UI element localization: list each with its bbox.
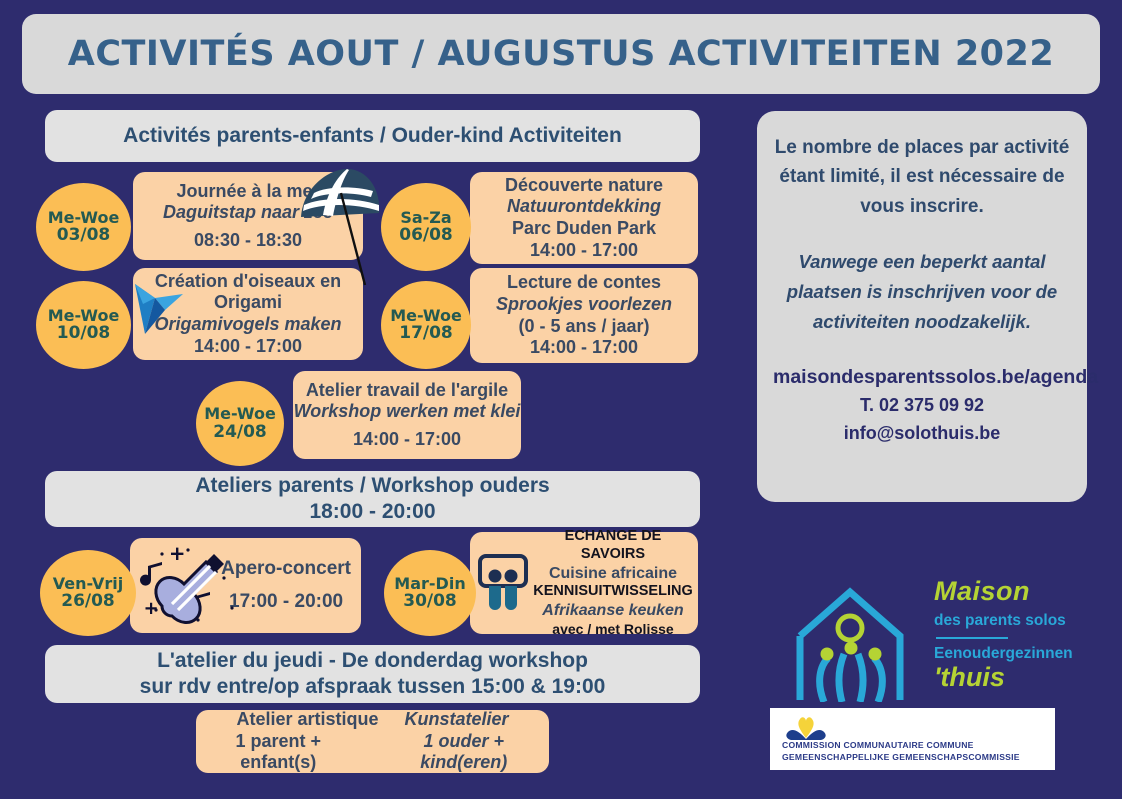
date-badge-30-08: Mar-Din 30/08 (384, 550, 476, 636)
info-nl-line1: Vanwege een beperkt aantal (773, 247, 1071, 277)
date-badge-day: Mar-Din (394, 575, 465, 593)
art-workshop-title-nl: Kunstatelier (405, 709, 509, 731)
art-workshop-sub-fr: 1 parent + enfant(s) (196, 731, 361, 774)
activity-title-fr: Atelier travail de l'argile (306, 380, 508, 402)
date-badge-17-08: Me-Woe 17/08 (381, 281, 471, 369)
info-fr-line1: Le nombre de places par activité (773, 133, 1071, 162)
logo-thuis-label: 'thuis (934, 663, 1094, 691)
logo-des-parents-solos-label: des parents solos (934, 612, 1094, 630)
activity-title-nl: KENNISUITWISSELING (532, 583, 694, 601)
section-header-parent-workshops-label: Ateliers parents / Workshop ouders (195, 473, 549, 499)
date-badge-day: Me-Woe (48, 307, 120, 325)
activity-card-atelier-artistique: Atelier artistique Kunstatelier 1 parent… (196, 710, 549, 773)
poster-canvas: ACTIVITÉS AOUT / AUGUSTUS ACTIVITEITEN 2… (0, 0, 1122, 799)
activity-time: 14:00 - 17:00 (530, 337, 638, 359)
knowledge-exchange-icon (474, 552, 532, 614)
date-badge-date: 26/08 (61, 592, 115, 611)
section-header-parent-child: Activités parents-enfants / Ouder-kind A… (45, 110, 700, 162)
phone-number[interactable]: T. 02 375 09 92 (773, 392, 1071, 420)
poster-title-bar: ACTIVITÉS AOUT / AUGUSTUS ACTIVITEITEN 2… (22, 14, 1100, 94)
house-family-icon (786, 584, 916, 702)
date-badge-day: Me-Woe (204, 405, 276, 423)
activity-title-fr: Lecture de contes (507, 272, 661, 294)
info-nl-line2: plaatsen is inschrijven voor de (773, 277, 1071, 307)
activity-subtitle-fr: Cuisine africaine (532, 564, 694, 584)
page-title: ACTIVITÉS AOUT / AUGUSTUS ACTIVITEITEN 2… (68, 34, 1054, 74)
activity-card-decouverte-nature: Découverte nature Natuurontdekking Parc … (470, 172, 698, 264)
section-header-parent-child-label: Activités parents-enfants / Ouder-kind A… (123, 123, 622, 149)
organisation-logo: Maison des parents solos Eenoudergezinne… (786, 578, 1086, 703)
activity-subtitle-nl: Afrikaanse keuken (532, 601, 694, 621)
section-header-thursday-workshop: L'atelier du jeudi - De donderdag worksh… (45, 645, 700, 703)
date-badge-26-08: Ven-Vrij 26/08 (40, 550, 136, 636)
ccc-line-nl: GEMEENSCHAPPELIJKE GEMEENSCHAPSCOMMISSIE (782, 752, 1020, 764)
date-badge-date: 10/08 (57, 324, 111, 343)
website-link[interactable]: maisondesparentssolos.be/agenda (773, 362, 1071, 392)
activity-time: 14:00 - 17:00 (194, 336, 302, 358)
activity-time: 14:00 - 17:00 (353, 429, 461, 451)
date-badge-date: 06/08 (399, 226, 453, 245)
activity-location: Parc Duden Park (512, 218, 656, 240)
activity-title-fr: Découverte nature (505, 175, 663, 197)
section-header-parent-workshops: Ateliers parents / Workshop ouders 18:00… (45, 471, 700, 527)
art-workshop-sub-nl: 1 ouder + kind(eren) (379, 731, 549, 774)
activity-card-echange-de-savoirs: ECHANGE DE SAVOIRS Cuisine africaine KEN… (470, 532, 698, 634)
logo-eenoudergezinnen-label: Eenoudergezinnen (934, 645, 1094, 663)
section-header-thursday-sublabel: sur rdv entre/op afspraak tussen 15:00 &… (140, 674, 606, 700)
ccc-line-fr: COMMISSION COMMUNAUTAIRE COMMUNE (782, 740, 1020, 752)
date-badge-24-08: Me-Woe 24/08 (196, 381, 284, 466)
activity-title-fr: ECHANGE DE SAVOIRS (532, 528, 694, 563)
origami-bird-icon (131, 280, 189, 336)
date-badge-date: 30/08 (403, 592, 457, 611)
ccc-logo-box: COMMISSION COMMUNAUTAIRE COMMUNE GEMEENS… (770, 708, 1055, 770)
date-badge-06-08: Sa-Za 06/08 (381, 183, 471, 271)
art-workshop-title-fr: Atelier artistique (236, 709, 378, 731)
date-badge-date: 17/08 (399, 324, 453, 343)
section-header-parent-workshops-time: 18:00 - 20:00 (309, 499, 435, 525)
info-fr-line2: étant limité, il est nécessaire de (773, 162, 1071, 191)
logo-maison-label: Maison (934, 578, 1094, 605)
info-nl-line3: activiteiten noodzakelijk. (773, 307, 1071, 337)
activity-card-atelier-argile: Atelier travail de l'argile Workshop wer… (293, 371, 521, 459)
info-fr-line3: vous inscrire. (773, 192, 1071, 221)
registration-info-box: Le nombre de places par activité étant l… (757, 111, 1087, 502)
activity-time: 14:00 - 17:00 (530, 240, 638, 262)
section-header-thursday-label: L'atelier du jeudi - De donderdag worksh… (157, 648, 588, 674)
activity-host: avec / met Rolisse (532, 621, 694, 638)
date-badge-date: 24/08 (213, 423, 267, 442)
beach-umbrella-icon (293, 163, 385, 288)
date-badge-date: 03/08 (57, 226, 111, 245)
logo-divider (936, 637, 1008, 639)
date-badge-day: Me-Woe (390, 307, 462, 325)
ccc-heart-icon (782, 714, 830, 740)
email-link[interactable]: info@solothuis.be (773, 420, 1071, 448)
guitar-music-icon (136, 544, 241, 628)
activity-card-apero-concert: Apero-concert 17:00 - 20:00 (130, 538, 361, 633)
date-badge-day: Ven-Vrij (53, 575, 123, 593)
activity-title-nl: Sprookjes voorlezen (496, 294, 672, 316)
date-badge-03-08: Me-Woe 03/08 (36, 183, 131, 271)
date-badge-10-08: Me-Woe 10/08 (36, 281, 131, 369)
activity-age-range: (0 - 5 ans / jaar) (518, 316, 649, 338)
date-badge-day: Sa-Za (400, 209, 451, 227)
activity-time: 08:30 - 18:30 (194, 230, 302, 252)
activity-title-nl: Natuurontdekking (507, 196, 661, 218)
date-badge-day: Me-Woe (48, 209, 120, 227)
activity-title-nl: Workshop werken met klei (294, 401, 521, 423)
activity-card-lecture-de-contes: Lecture de contes Sprookjes voorlezen (0… (470, 268, 698, 363)
